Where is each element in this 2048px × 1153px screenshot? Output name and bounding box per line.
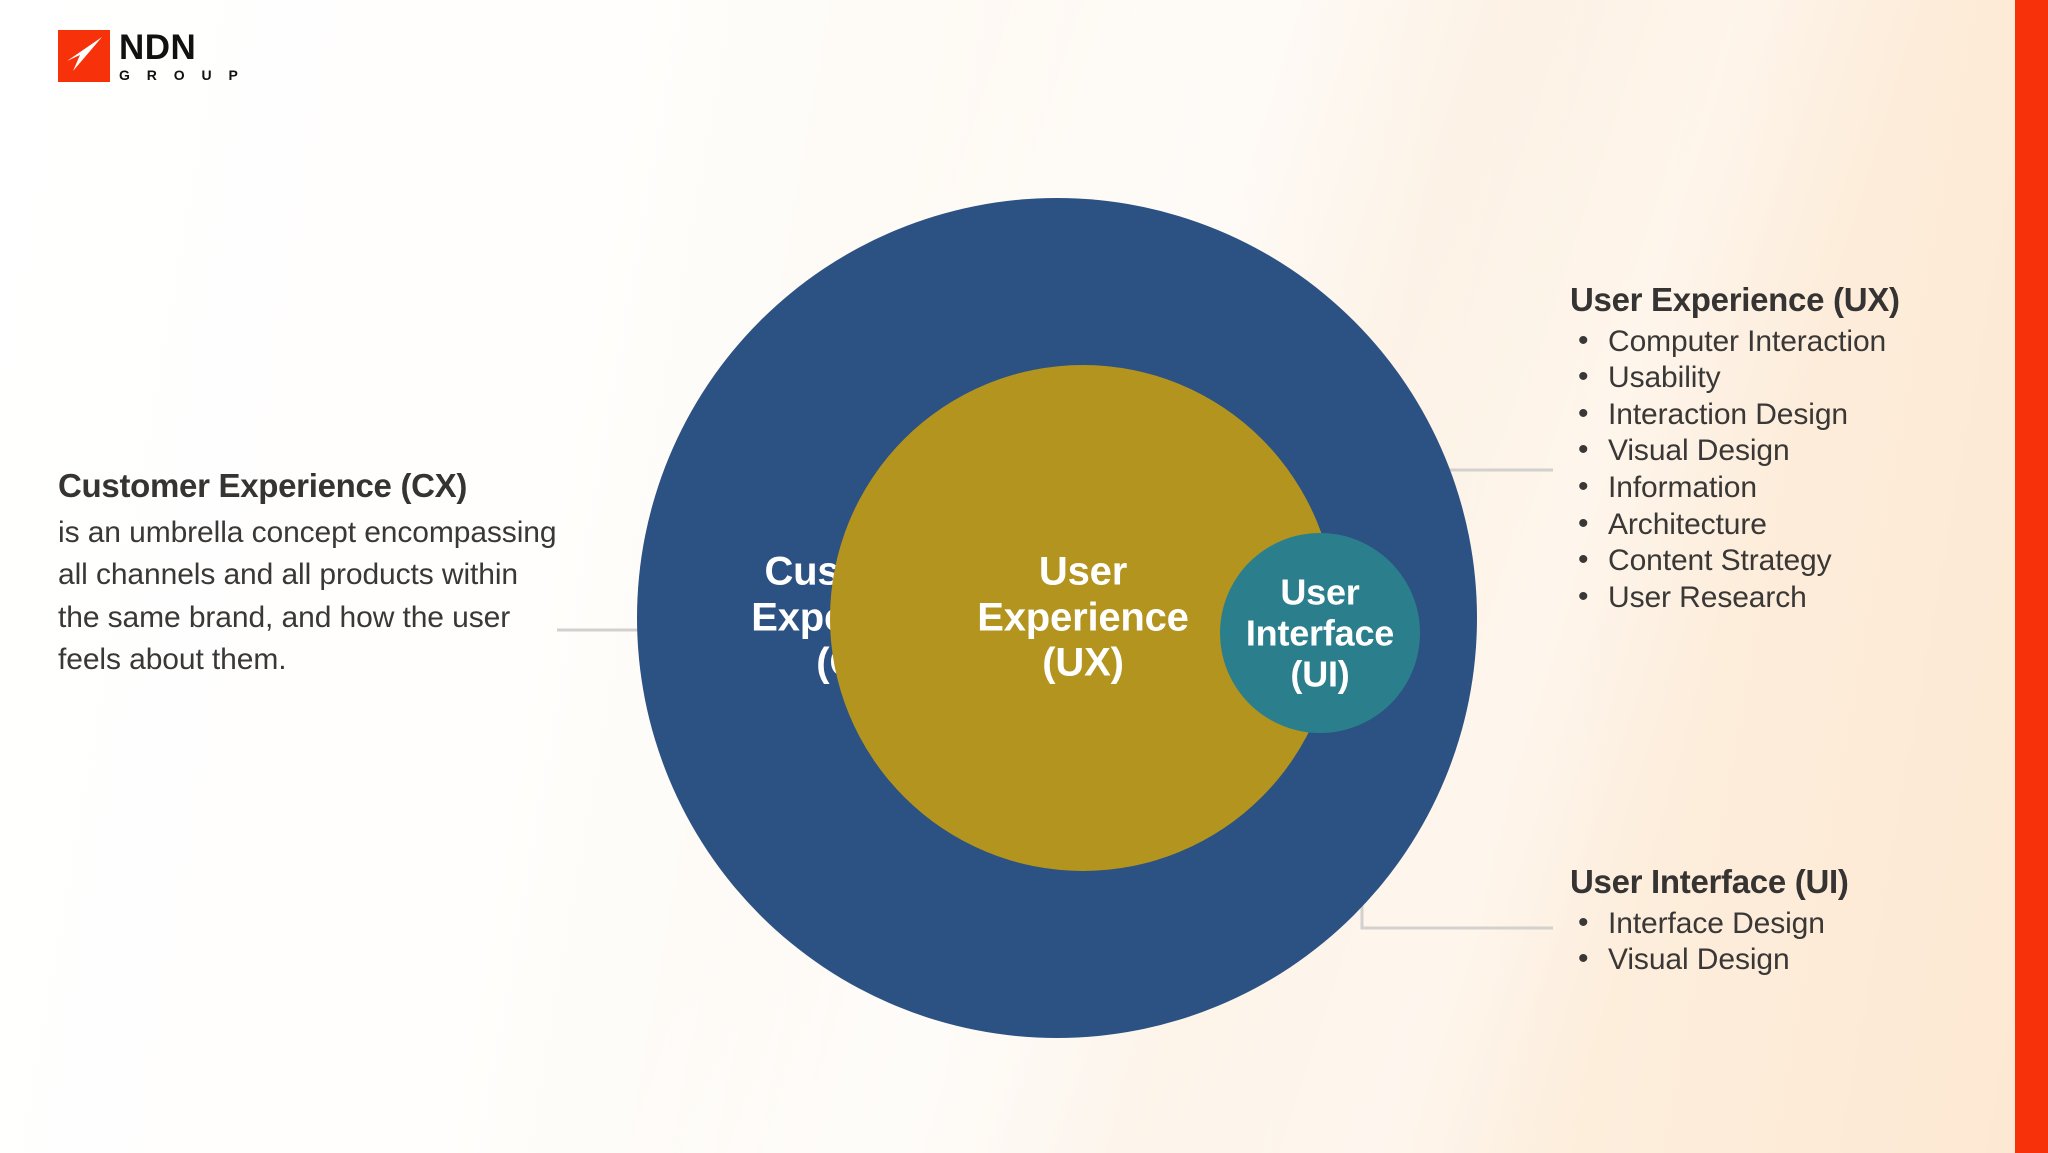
arrow-dart-icon [58, 30, 110, 82]
list-item: Visual Design [1570, 942, 2010, 979]
circle-ui-label-line2: Interface [1204, 612, 1436, 653]
accent-bar-right [2015, 0, 2048, 1153]
list-item: Visual Design [1570, 433, 2010, 470]
circle-user-interface[interactable]: User Interface (UI) [1220, 533, 1420, 733]
circle-ui-label-line3: (UI) [1204, 654, 1436, 695]
circle-ui-label-line1: User [1204, 571, 1436, 612]
logo-name: NDN [119, 30, 244, 65]
list-item: User Research [1570, 580, 2010, 617]
ui-list: Interface Design Visual Design [1570, 906, 2010, 979]
cx-body: is an umbrella concept encompassing all … [58, 512, 558, 682]
ux-heading: User Experience (UX) [1570, 280, 2010, 320]
block-user-interface: User Interface (UI) Interface Design Vis… [1570, 862, 2010, 979]
list-item: Usability [1570, 360, 2010, 397]
slide-canvas: NDN G R O U P Customer Experience (CX) U… [0, 0, 2048, 1153]
logo-wordmark: NDN G R O U P [119, 30, 244, 82]
list-item: Interaction Design [1570, 397, 2010, 434]
block-customer-experience: Customer Experience (CX) is an umbrella … [58, 466, 558, 682]
cx-heading: Customer Experience (CX) [58, 466, 558, 506]
list-item: Architecture [1570, 507, 2010, 544]
circle-ui-label: User Interface (UI) [1204, 571, 1436, 694]
ui-heading: User Interface (UI) [1570, 862, 2010, 902]
ndn-group-logo: NDN G R O U P [58, 30, 244, 82]
list-item: Interface Design [1570, 906, 2010, 943]
ux-list: Computer Interaction Usability Interacti… [1570, 324, 2010, 617]
logo-subtitle: G R O U P [119, 68, 244, 82]
list-item: Content Strategy [1570, 543, 2010, 580]
block-user-experience: User Experience (UX) Computer Interactio… [1570, 280, 2010, 616]
list-item: Information [1570, 470, 2010, 507]
list-item: Computer Interaction [1570, 324, 2010, 361]
